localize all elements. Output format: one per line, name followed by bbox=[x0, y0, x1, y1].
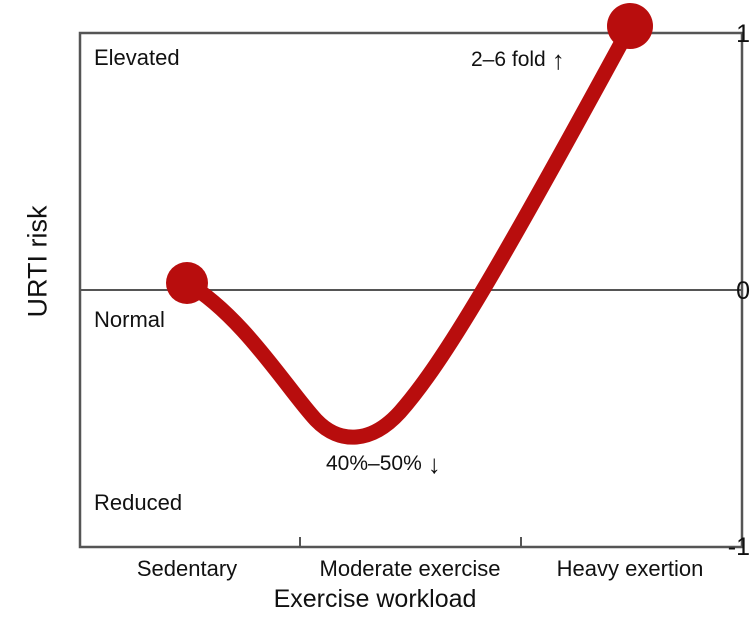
marker-sedentary bbox=[166, 262, 208, 304]
annotation-increase: 2–6 fold↑ bbox=[471, 47, 565, 73]
marker-heavy-exertion bbox=[607, 3, 653, 49]
y-axis-title: URTI risk bbox=[23, 162, 54, 362]
arrow-down-icon: ↓ bbox=[422, 451, 441, 477]
arrow-up-icon: ↑ bbox=[546, 47, 565, 73]
annotation-decrease: 40%–50%↓ bbox=[326, 451, 441, 477]
zone-label-reduced: Reduced bbox=[94, 490, 182, 516]
chart-figure: URTI risk 1 0 -1 Elevated Normal Reduced… bbox=[0, 0, 750, 619]
x-tick-label-sedentary: Sedentary bbox=[137, 556, 237, 582]
zone-label-normal: Normal bbox=[94, 307, 165, 333]
y-tick-label-1: 1 bbox=[690, 22, 750, 47]
x-tick-label-heavy-exertion: Heavy exertion bbox=[557, 556, 704, 582]
annotation-increase-text: 2–6 fold bbox=[471, 48, 546, 71]
annotation-decrease-text: 40%–50% bbox=[326, 452, 422, 475]
y-tick-label-0: 0 bbox=[690, 279, 750, 304]
x-tick-label-moderate-exercise: Moderate exercise bbox=[320, 556, 501, 582]
x-axis-title: Exercise workload bbox=[0, 585, 750, 614]
zone-label-elevated: Elevated bbox=[94, 45, 180, 71]
